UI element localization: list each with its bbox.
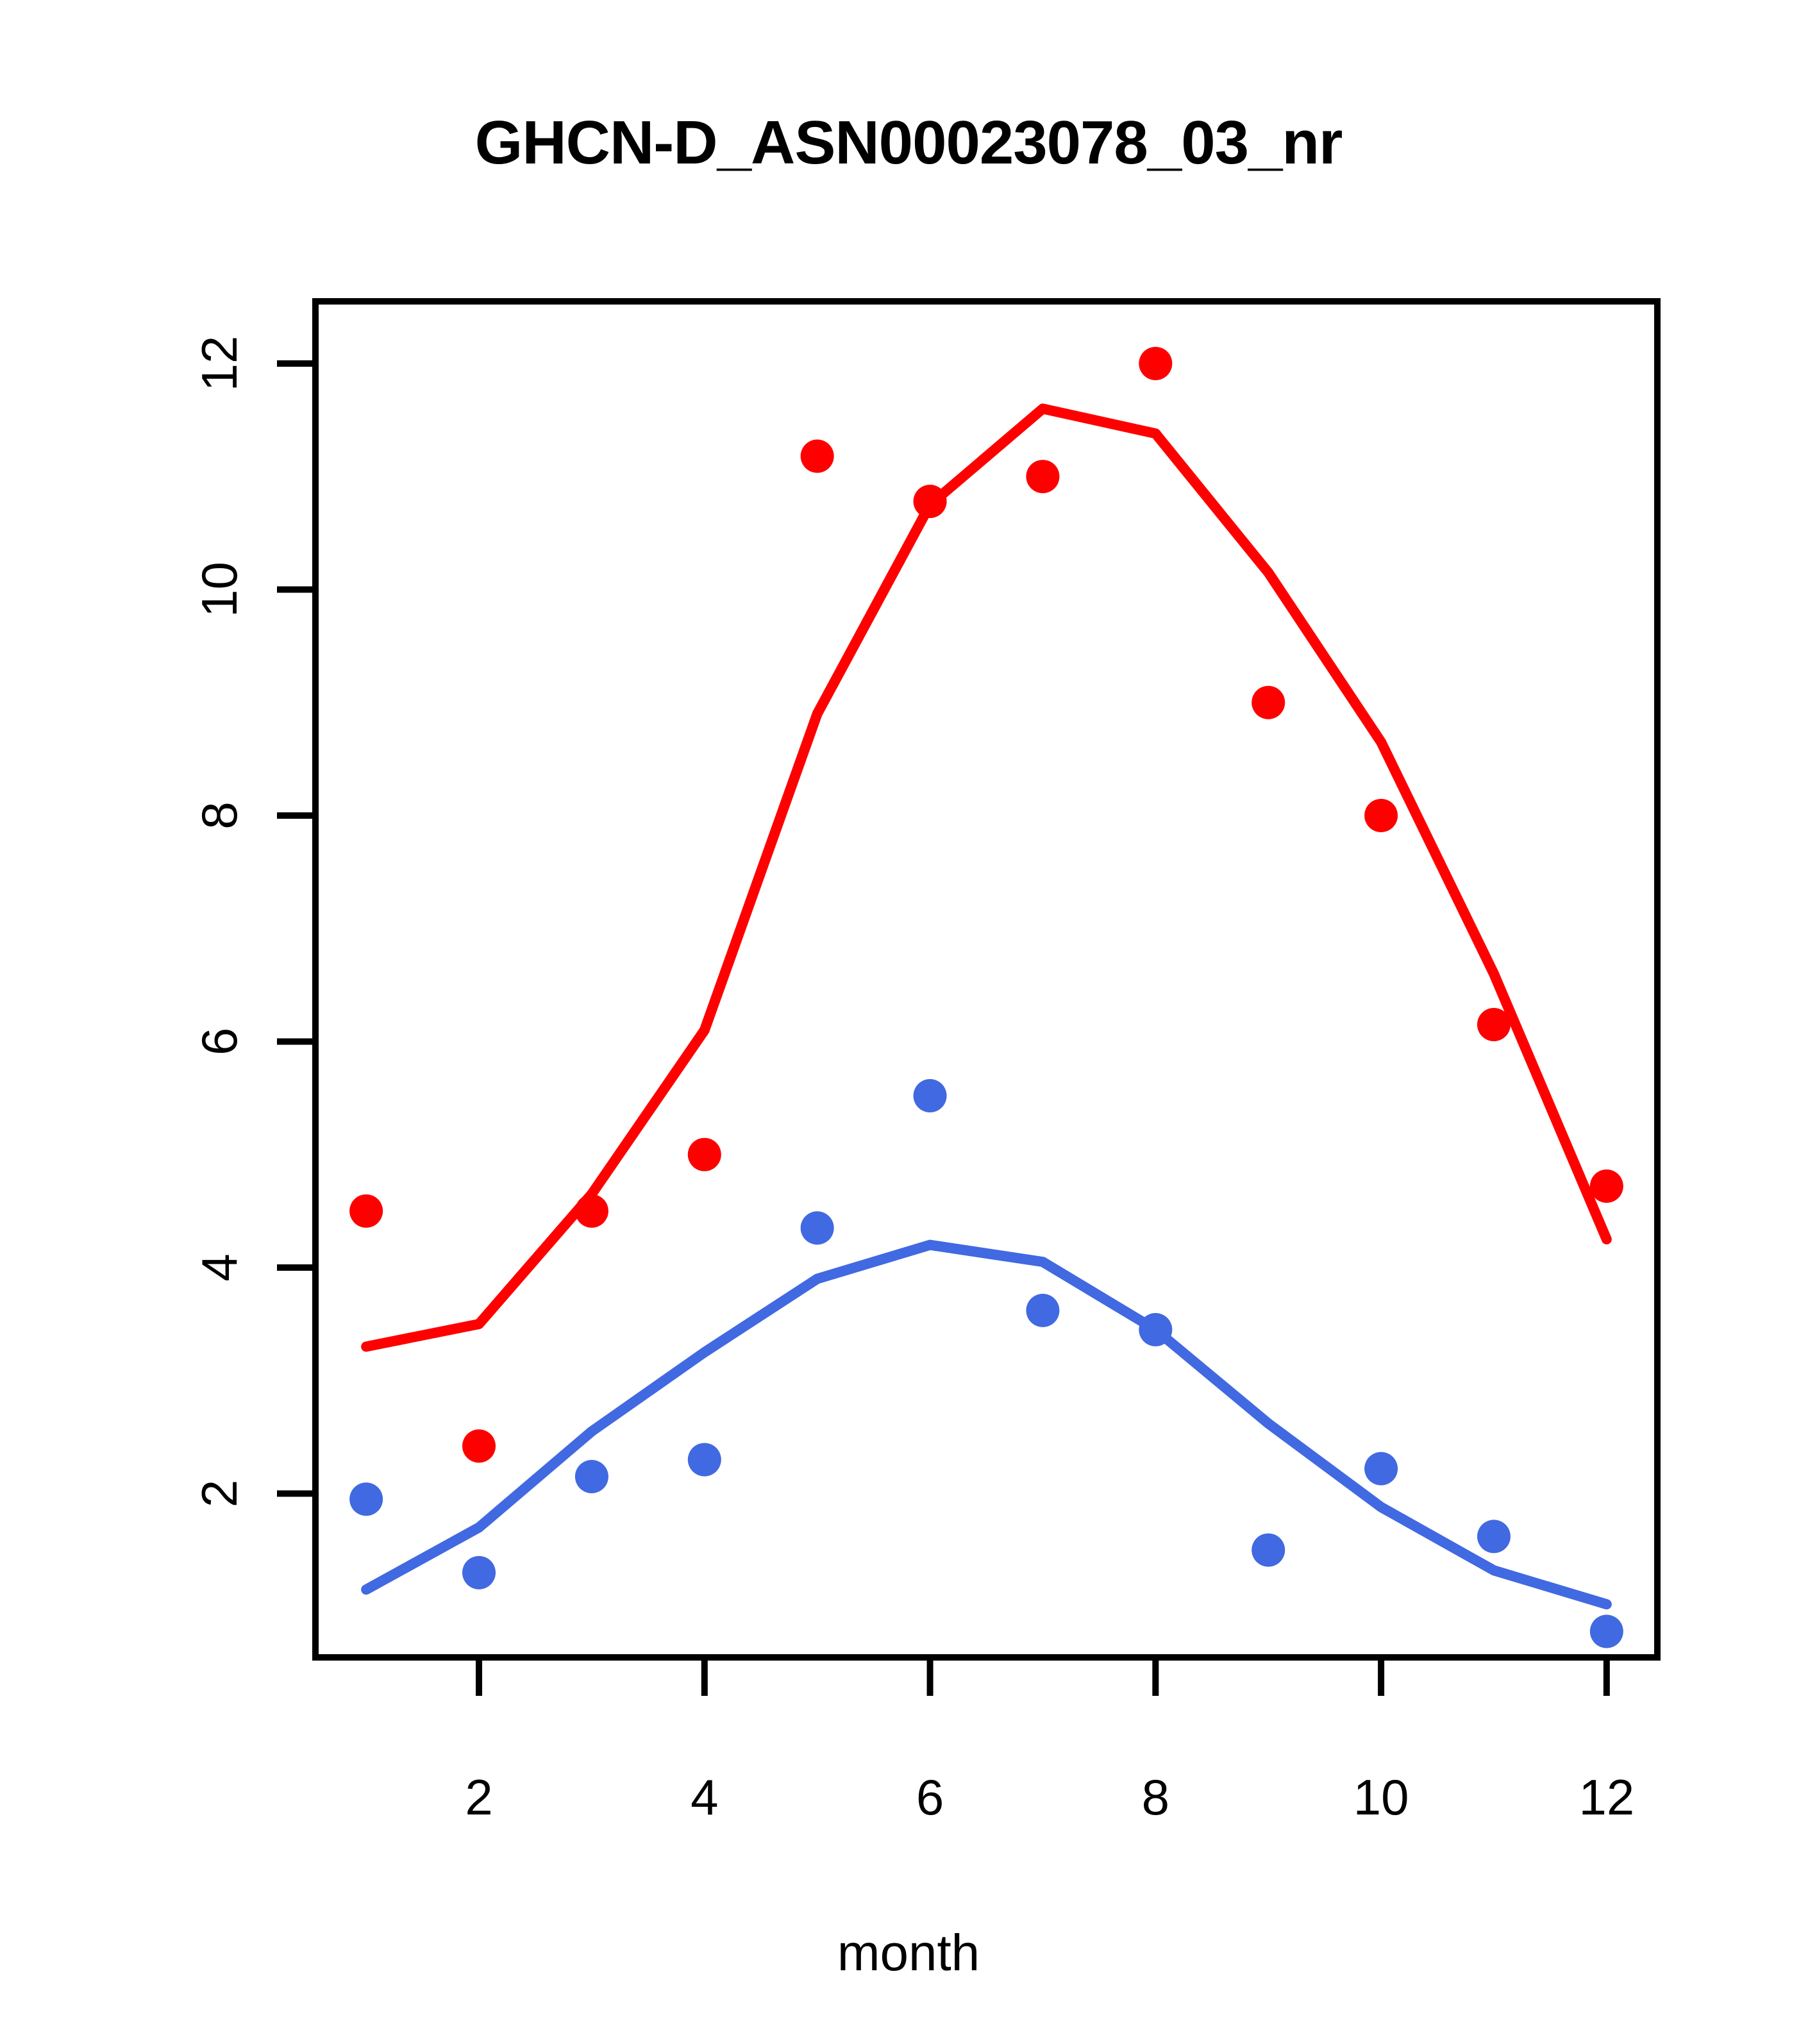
data-point-red-points [1477, 1008, 1511, 1041]
plot-area: 24681012 24681012 [0, 0, 1817, 2044]
data-point-blue-points [575, 1460, 608, 1493]
data-point-blue-points [462, 1556, 496, 1589]
plot-border [315, 301, 1657, 1657]
data-point-red-points [688, 1138, 721, 1171]
data-point-red-points [1139, 347, 1172, 380]
y-tick-label: 2 [191, 1480, 247, 1507]
data-point-red-points [575, 1194, 608, 1228]
data-point-blue-points [1139, 1313, 1172, 1346]
data-point-blue-points [688, 1443, 721, 1477]
data-point-red-points [462, 1429, 496, 1462]
data-point-red-points [349, 1194, 383, 1228]
data-point-blue-points [801, 1211, 834, 1244]
x-tick-label: 2 [465, 1769, 492, 1825]
y-tick-label: 8 [191, 801, 247, 829]
data-point-red-points [801, 439, 834, 473]
x-tick-label: 12 [1578, 1769, 1634, 1825]
data-point-red-points [1590, 1169, 1623, 1203]
data-point-red-points [1026, 460, 1059, 493]
x-tick-label: 10 [1353, 1769, 1409, 1825]
x-axis-label: month [0, 1923, 1817, 1982]
data-point-red-points [914, 485, 947, 518]
y-axis-ticks [277, 364, 315, 1494]
data-point-blue-points [1364, 1452, 1398, 1486]
x-axis-ticks [479, 1657, 1607, 1696]
data-point-blue-points [1590, 1614, 1623, 1648]
y-tick-label: 6 [191, 1028, 247, 1055]
series-line-blue-line [366, 1245, 1607, 1604]
data-point-blue-points [349, 1482, 383, 1516]
x-tick-label: 8 [1142, 1769, 1169, 1825]
x-tick-label: 6 [916, 1769, 944, 1825]
data-point-blue-points [914, 1079, 947, 1112]
data-point-blue-points [1477, 1520, 1511, 1553]
data-point-blue-points [1252, 1534, 1285, 1567]
y-tick-label: 4 [191, 1253, 247, 1281]
x-axis-tick-labels: 24681012 [465, 1769, 1634, 1825]
data-point-red-points [1364, 799, 1398, 832]
y-axis-tick-labels: 24681012 [191, 336, 247, 1508]
figure-canvas: GHCN-D_ASN00023078_03_nr 24681012 246810… [0, 0, 1817, 2044]
series-line-red-line [366, 408, 1607, 1346]
data-point-blue-points [1026, 1294, 1059, 1327]
x-tick-label: 4 [691, 1769, 718, 1825]
axis-box [315, 301, 1657, 1657]
data-point-red-points [1252, 686, 1285, 719]
y-tick-label: 10 [191, 562, 247, 617]
data-series-layer [349, 347, 1623, 1648]
y-tick-label: 12 [191, 336, 247, 392]
